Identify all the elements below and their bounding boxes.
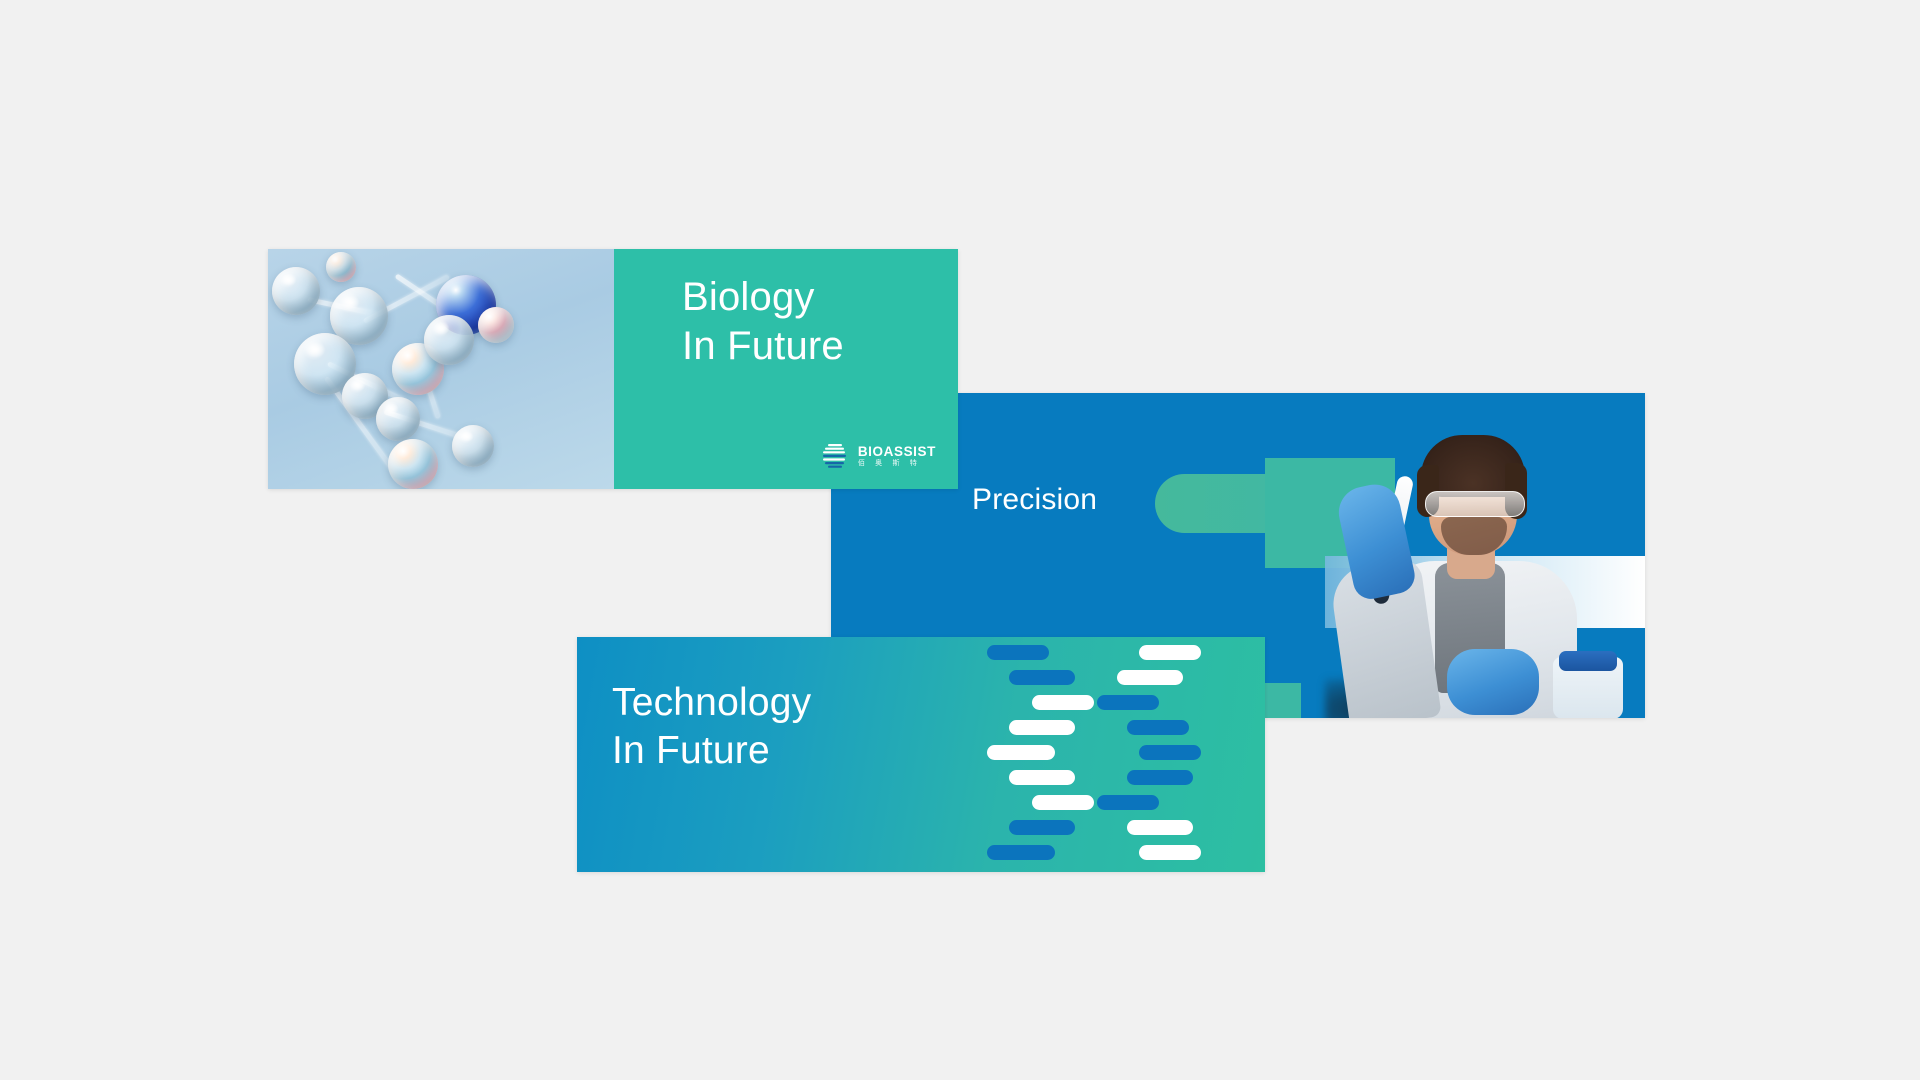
gel-band xyxy=(1127,720,1189,735)
photo-band-teal-lower xyxy=(1265,683,1301,718)
scientist-image xyxy=(1265,393,1645,718)
flask-cap xyxy=(1559,651,1617,671)
scientist-figure xyxy=(1325,413,1625,718)
molecule-atom xyxy=(452,425,494,467)
bioassist-wordmark: BIOASSIST 佰 奥 斯 特 xyxy=(858,445,936,468)
gel-band xyxy=(1127,820,1193,835)
gel-band xyxy=(1117,670,1183,685)
card-biology-title: Biology In Future xyxy=(682,273,844,371)
bioassist-logo[interactable]: BIOASSIST 佰 奥 斯 特 xyxy=(821,441,936,471)
gel-band xyxy=(1127,770,1193,785)
card-precision-title: Precision xyxy=(972,482,1097,519)
molecule-atom xyxy=(478,307,514,343)
safety-goggles-icon xyxy=(1425,491,1525,517)
gel-band xyxy=(1139,745,1201,760)
gel-band xyxy=(1009,820,1075,835)
gel-band xyxy=(1139,845,1201,860)
molecule-atom xyxy=(326,252,356,282)
molecule-illustration xyxy=(268,249,614,489)
card-technology-title: Technology In Future xyxy=(612,679,811,774)
molecule-atom xyxy=(424,315,474,365)
brand-name: BIOASSIST xyxy=(858,445,936,459)
gel-band xyxy=(987,745,1055,760)
molecule-image xyxy=(268,249,614,489)
bioassist-globe-stripes-icon xyxy=(821,441,851,471)
gel-band xyxy=(987,845,1055,860)
gel-band xyxy=(1009,720,1075,735)
dna-gel-graphic xyxy=(987,637,1247,872)
gel-band xyxy=(1009,770,1075,785)
card-technology[interactable]: Technology In Future xyxy=(577,637,1265,872)
gel-band xyxy=(1097,695,1159,710)
gel-band xyxy=(987,645,1049,660)
gel-band xyxy=(1097,795,1159,810)
molecule-atom xyxy=(376,397,420,441)
biology-text-pane: Biology In Future xyxy=(614,249,958,489)
glove-right xyxy=(1447,649,1539,715)
slide-canvas: Biology In Future xyxy=(0,0,1920,1080)
molecule-atom xyxy=(388,439,438,489)
gel-band xyxy=(1032,795,1094,810)
gel-band xyxy=(1139,645,1201,660)
molecule-atom xyxy=(272,267,320,315)
brand-name-cn: 佰 奥 斯 特 xyxy=(858,460,936,467)
gel-band xyxy=(1032,695,1094,710)
card-biology[interactable]: Biology In Future xyxy=(268,249,958,489)
gel-band xyxy=(1009,670,1075,685)
